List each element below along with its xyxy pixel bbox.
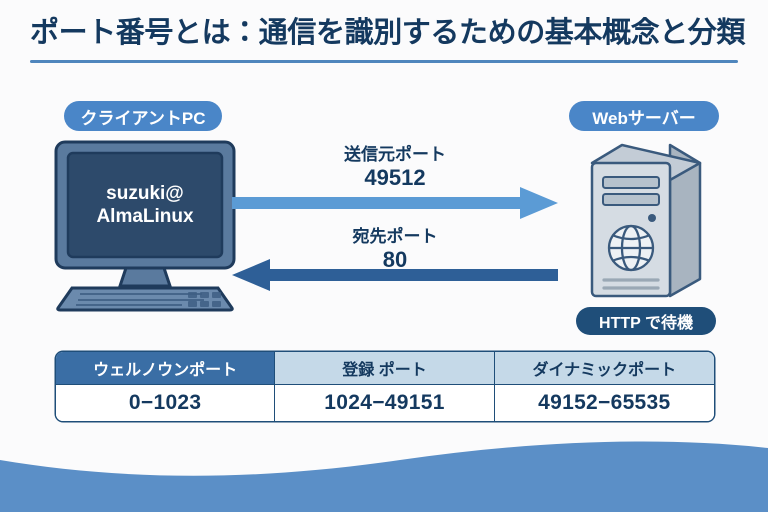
desktop-computer-icon bbox=[52, 140, 238, 312]
port-table-body: 0−1023 1024−49151 49152−65535 bbox=[56, 385, 714, 421]
client-label-pill: クライアントPC bbox=[64, 101, 222, 131]
decorative-wave bbox=[0, 422, 768, 512]
server-tower-icon bbox=[584, 139, 706, 302]
table-header-registered: 登録 ポート bbox=[275, 352, 494, 385]
title-underline-rule bbox=[30, 60, 738, 63]
flow-arrow-client-to-server bbox=[232, 186, 558, 220]
table-header-dynamic: ダイナミックポート bbox=[495, 352, 714, 385]
source-port-name: 送信元ポート bbox=[230, 144, 560, 165]
table-cell-dynamic-range: 49152−65535 bbox=[495, 385, 714, 421]
server-status-badge: HTTP で待機 bbox=[576, 307, 716, 335]
slide-canvas: ポート番号とは：通信を識別するための基本概念と分類 クライアントPC suzuk… bbox=[0, 0, 768, 512]
server-label-pill: Webサーバー bbox=[569, 101, 719, 131]
title-block: ポート番号とは：通信を識別するための基本概念と分類 bbox=[0, 14, 768, 63]
port-table-head: ウェルノウンポート 登録 ポート ダイナミックポート bbox=[56, 352, 714, 385]
source-port-label: 送信元ポート 49512 bbox=[230, 144, 560, 190]
table-cell-well-known-range: 0−1023 bbox=[56, 385, 275, 421]
destination-port-value: 80 bbox=[230, 247, 560, 272]
table-header-well-known: ウェルノウンポート bbox=[56, 352, 275, 385]
port-range-table: ウェルノウンポート 登録 ポート ダイナミックポート 0−1023 1024−4… bbox=[56, 352, 714, 421]
destination-port-label: 宛先ポート 80 bbox=[230, 226, 560, 272]
source-port-value: 49512 bbox=[230, 165, 560, 190]
table-header-row: ウェルノウンポート 登録 ポート ダイナミックポート bbox=[56, 352, 714, 385]
globe-icon bbox=[609, 226, 653, 270]
table-cell-registered-range: 1024−49151 bbox=[275, 385, 494, 421]
page-title: ポート番号とは：通信を識別するための基本概念と分類 bbox=[0, 14, 768, 52]
destination-port-name: 宛先ポート bbox=[230, 226, 560, 247]
table-row: 0−1023 1024−49151 49152−65535 bbox=[56, 385, 714, 421]
